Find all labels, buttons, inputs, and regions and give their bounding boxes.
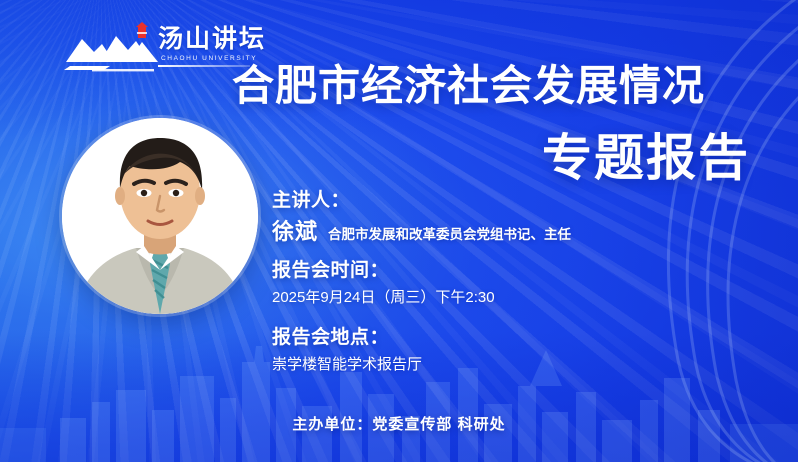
speaker-name: 徐斌 [272,218,318,246]
time-value: 2025年9月24日（周三）下午2:30 [272,286,702,310]
mountain-range-icon [62,22,166,74]
speaker-portrait [62,118,258,314]
time-label: 报告会时间： [272,258,702,284]
organizer-line: 主办单位：党委宣传部 科研处 [0,414,798,436]
page-title-line1: 合肥市经济社会发展情况 [232,63,705,109]
place-label: 报告会地点： [272,325,702,351]
page-title-line2: 专题报告 [542,130,750,186]
event-info-block: 主讲人： 徐斌 合肥市发展和改革委员会党组书记、主任 报告会时间： 2025年9… [272,188,702,392]
logo-english-name: CHAOHU UNIVERSITY [161,55,257,62]
red-pagoda-icon [136,22,148,38]
logo-wordmark: 汤山讲坛 [158,25,266,53]
speaker-title: 合肥市发展和改革委员会党组书记、主任 [328,224,571,246]
speaker-row: 徐斌 合肥市发展和改革委员会党组书记、主任 [272,218,702,246]
logo: 汤山讲坛 CHAOHU UNIVERSITY [62,22,242,80]
place-value: 崇学楼智能学术报告厅 [272,353,702,377]
speaker-label: 主讲人： [272,188,702,214]
portrait-illustration [62,118,258,314]
lecture-poster: 汤山讲坛 CHAOHU UNIVERSITY [0,0,798,462]
